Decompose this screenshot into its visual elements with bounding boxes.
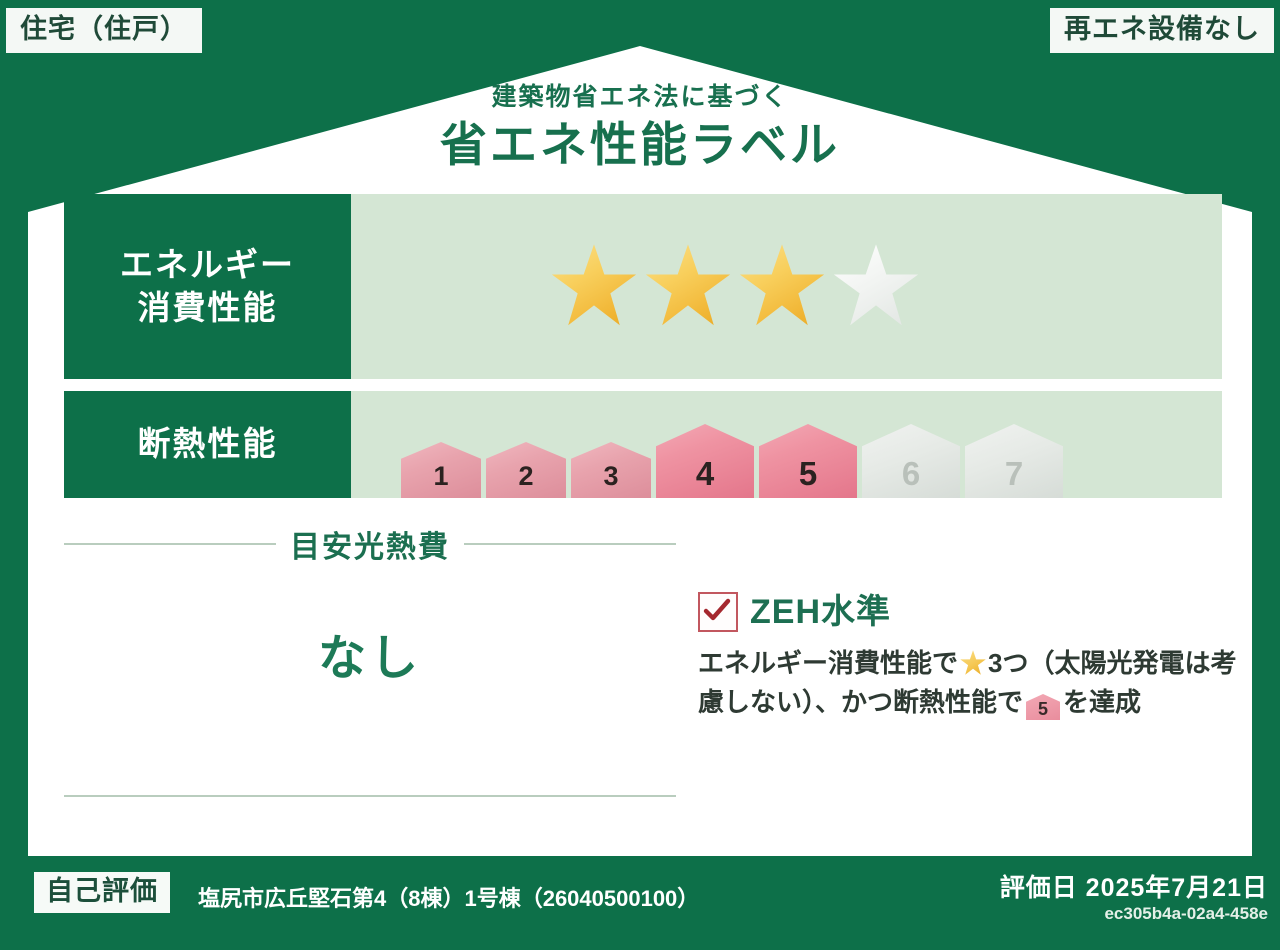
insulation-level-badge-inline: 5 [1026,694,1060,720]
star-icon [833,244,919,330]
insulation-performance-row: 断熱性能 1 2 3 4 5 6 7 [64,391,1222,498]
utility-cost-divider: 目安光熱費 [64,522,676,566]
building-type-badge: 住宅（住戸） [6,8,202,53]
insulation-level-badge: 1 [401,442,481,498]
insulation-level-value: 3 [603,463,618,498]
star-icon [739,244,825,330]
divider-line-left [64,543,276,545]
zeh-desc-part1: エネルギー消費性能で [698,648,958,678]
energy-performance-label: 住宅（住戸） 再エネ設備なし 建築物省エネ法に基づく 省エネ性能ラベル エネルギ… [0,0,1280,950]
zeh-desc-part2: 3つ（太陽光発電 [988,648,1184,678]
label-footer: 自己評価 塩尻市広丘堅石第4（8棟）1号棟（26040500100） 評価日 2… [0,856,1280,950]
insulation-level-scale: 1 2 3 4 5 6 7 [351,391,1222,498]
energy-label-line1: エネルギー [120,244,295,286]
energy-label-line2: 消費性能 [138,287,278,329]
check-icon [703,598,731,624]
utility-cost-value: なし [64,618,676,688]
zeh-desc-part4: を達成 [1063,687,1141,717]
star-icon [551,244,637,330]
star-icon [960,650,986,676]
metric-rows: エネルギー 消費性能 断熱性能 1 2 3 4 5 6 7 [64,194,1222,498]
insulation-level-value: 7 [1005,457,1023,498]
insulation-label: 断熱性能 [138,423,278,465]
insulation-level-value: 5 [799,457,817,498]
star-rating [351,194,1222,379]
insulation-performance-label-cell: 断熱性能 [64,391,351,498]
zeh-description: エネルギー消費性能で3つ（太陽光発電は考慮しない）、かつ断熱性能で5を達成 [698,644,1238,722]
evaluation-type-badge: 自己評価 [34,872,170,913]
evaluation-date: 評価日 2025年7月21日 [1000,868,1268,904]
insulation-level-value: 4 [696,457,714,498]
insulation-level-badge: 2 [486,442,566,498]
insulation-level-badge: 6 [862,424,960,498]
evaluation-id: ec305b4a-02a4-458e [1104,904,1268,924]
divider-line-right [464,543,676,545]
page-title: 省エネ性能ラベル [0,119,1280,171]
label-title-block: 建築物省エネ法に基づく 省エネ性能ラベル [0,84,1280,170]
insulation-level-badge: 3 [571,442,651,498]
title-subtitle: 建築物省エネ法に基づく [0,84,1280,112]
star-icon [645,244,731,330]
insulation-level-value: 1 [433,463,448,498]
property-name: 塩尻市広丘堅石第4（8棟）1号棟（26040500100） [198,881,699,913]
insulation-level-badge: 4 [656,424,754,498]
zeh-standard-block: ZEH水準 エネルギー消費性能で3つ（太陽光発電は考慮しない）、かつ断熱性能で5… [698,592,1238,722]
zeh-checkbox[interactable] [698,592,738,632]
renewable-equipment-badge: 再エネ設備なし [1050,8,1274,53]
insulation-level-value: 6 [902,457,920,498]
insulation-level-badge: 5 [759,424,857,498]
utility-cost-bottom-rule [64,795,676,797]
insulation-level-value: 5 [1038,700,1048,720]
zeh-title: ZEH水準 [750,595,891,629]
insulation-level-value: 2 [518,463,533,498]
zeh-heading-row: ZEH水準 [698,592,1238,632]
energy-performance-label-cell: エネルギー 消費性能 [64,194,351,379]
utility-cost-heading: 目安光熱費 [290,522,450,566]
insulation-level-badge: 7 [965,424,1063,498]
energy-performance-row: エネルギー 消費性能 [64,194,1222,379]
